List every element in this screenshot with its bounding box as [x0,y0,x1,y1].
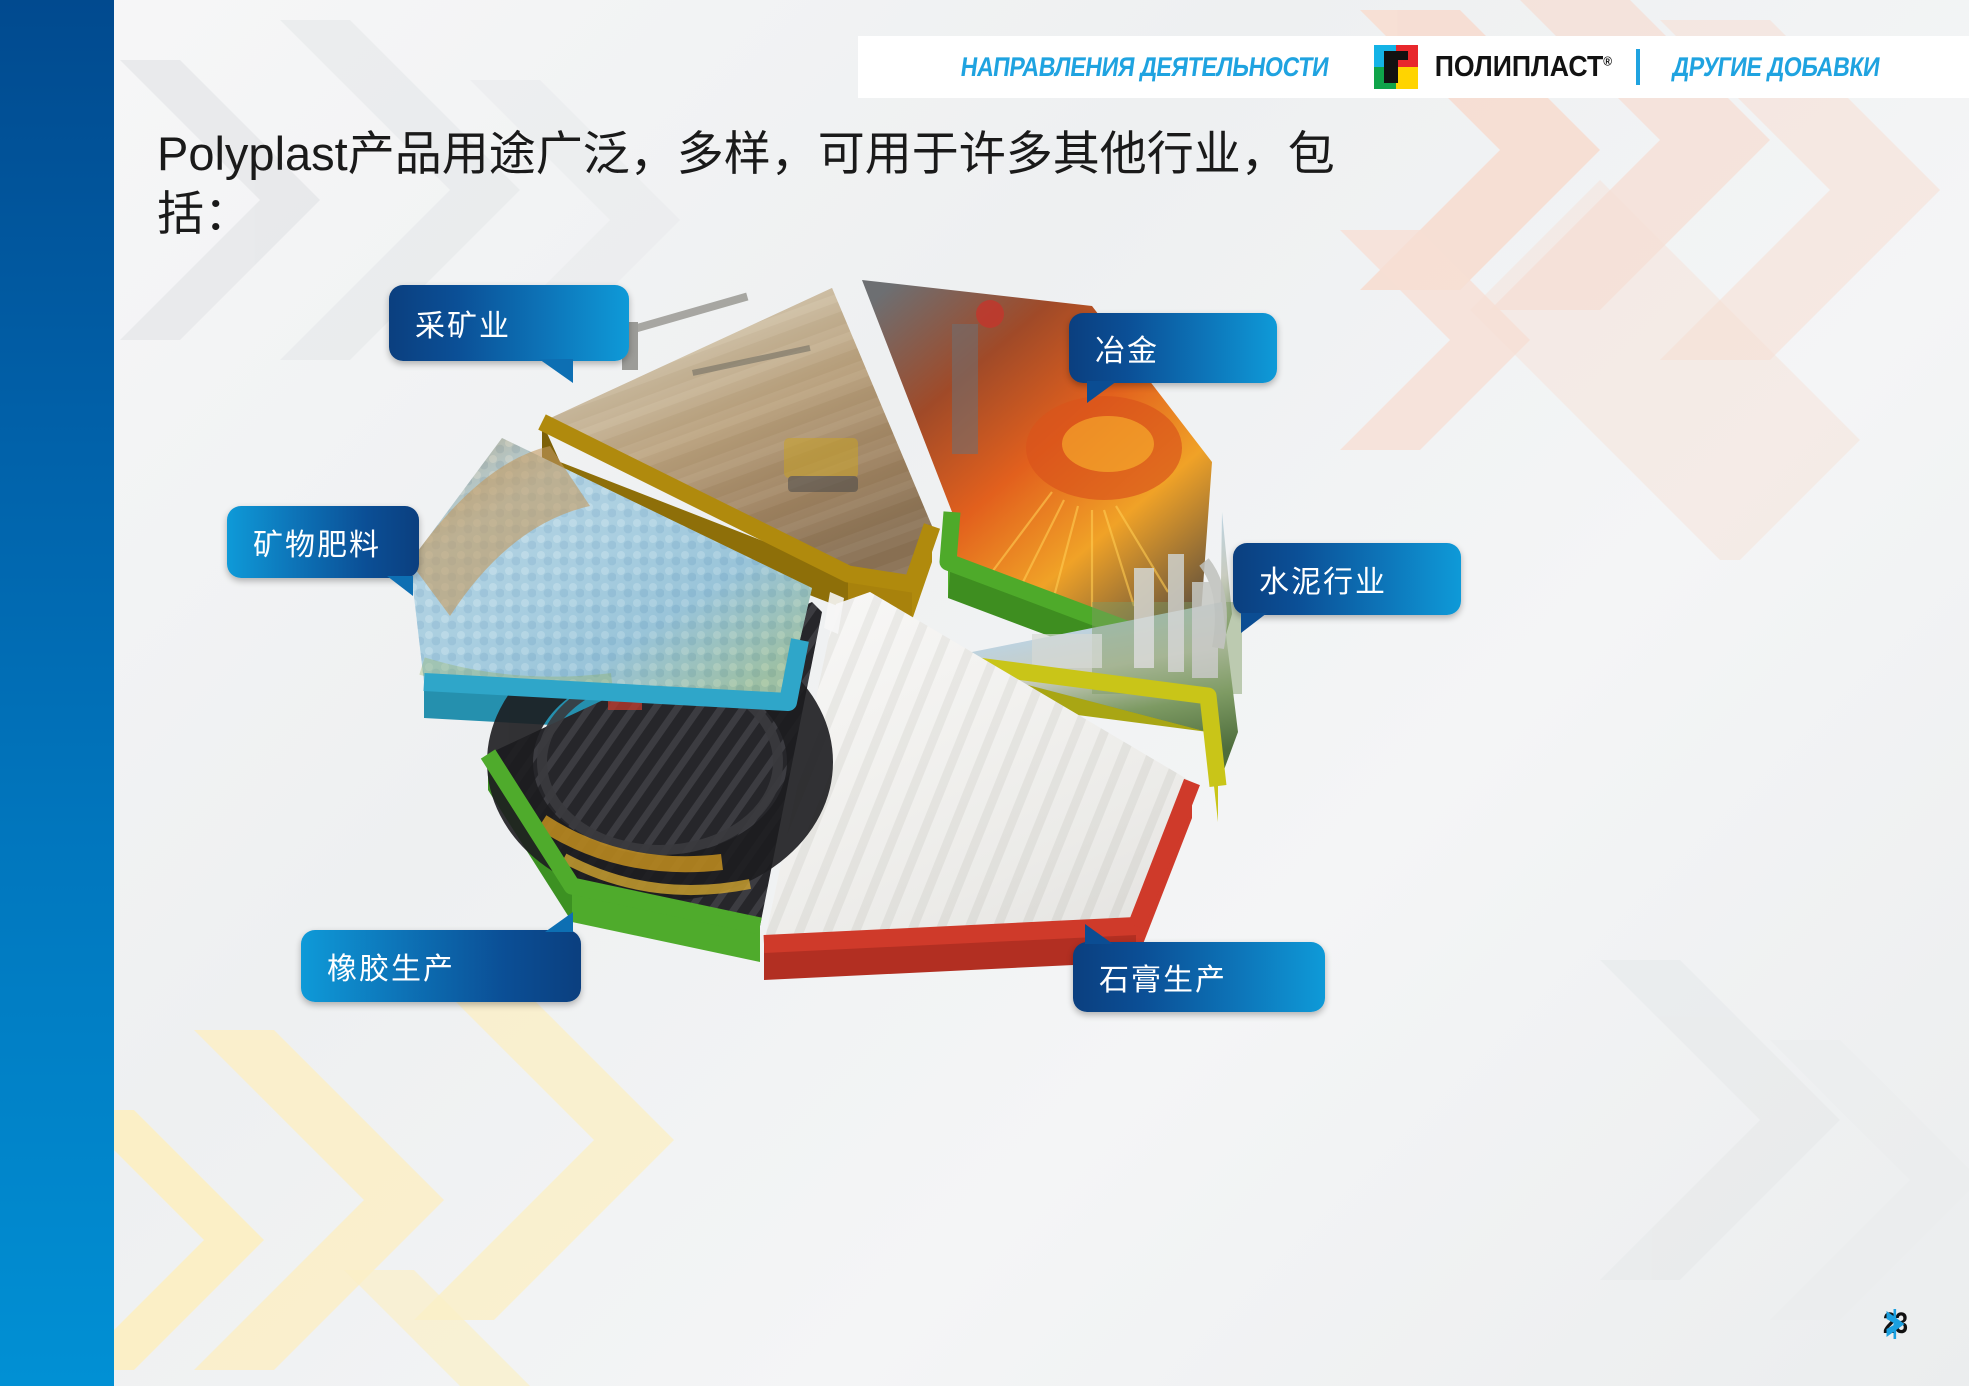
callout-label-rubber-text: 橡胶生产 [327,944,455,988]
callout-label-cement[interactable]: 水泥行业 [1233,543,1461,615]
callout-tail-metallurgy [1087,381,1117,403]
header-bar: НАПРАВЛЕНИЯ ДЕЯТЕЛЬНОСТИ ПОЛИПЛАСТ® ДРУГ… [858,36,1969,98]
registered-mark: ® [1603,53,1612,68]
polyplast-logo-mark-icon [1374,45,1418,89]
page-number-arrow-icon [1883,1309,1909,1339]
callout-tail-rubber [545,912,573,932]
polyplast-logo: ПОЛИПЛАСТ® [1374,45,1620,89]
callout-label-mining-text: 采矿业 [415,301,511,345]
left-accent-rail [0,0,114,1386]
page-number: 23 [1863,1304,1927,1344]
callout-label-metallurgy[interactable]: 冶金 [1069,313,1277,383]
header-right-text: ДРУГИЕ ДОБАВКИ [1671,52,1882,83]
header-left-text: НАПРАВЛЕНИЯ ДЕЯТЕЛЬНОСТИ [958,52,1330,83]
page-title-line2: 括： [157,184,1347,244]
callout-tail-mining [539,359,573,383]
callout-label-mining[interactable]: 采矿业 [389,285,629,361]
callout-label-fertilizer[interactable]: 矿物肥料 [227,506,419,578]
header-divider [1636,49,1640,85]
callout-tail-fertilizer [387,576,413,596]
callout-label-gypsum[interactable]: 石膏生产 [1073,942,1325,1012]
callout-tail-gypsum [1085,924,1113,944]
callout-label-cement-text: 水泥行业 [1259,557,1387,601]
page-title-line1: Polyplast产品用途广泛，多样，可用于许多其他行业，包 [157,124,1347,184]
callout-label-fertilizer-text: 矿物肥料 [253,520,381,564]
callout-label-metallurgy-text: 冶金 [1095,326,1159,370]
polyplast-wordmark-text: ПОЛИПЛАСТ [1435,51,1604,83]
callout-label-rubber[interactable]: 橡胶生产 [301,930,581,1002]
polyplast-wordmark: ПОЛИПЛАСТ® [1435,51,1612,84]
page-title: Polyplast产品用途广泛，多样，可用于许多其他行业，包 括： [157,124,1347,243]
callout-tail-cement [1241,613,1267,633]
callout-label-gypsum-text: 石膏生产 [1099,955,1227,999]
